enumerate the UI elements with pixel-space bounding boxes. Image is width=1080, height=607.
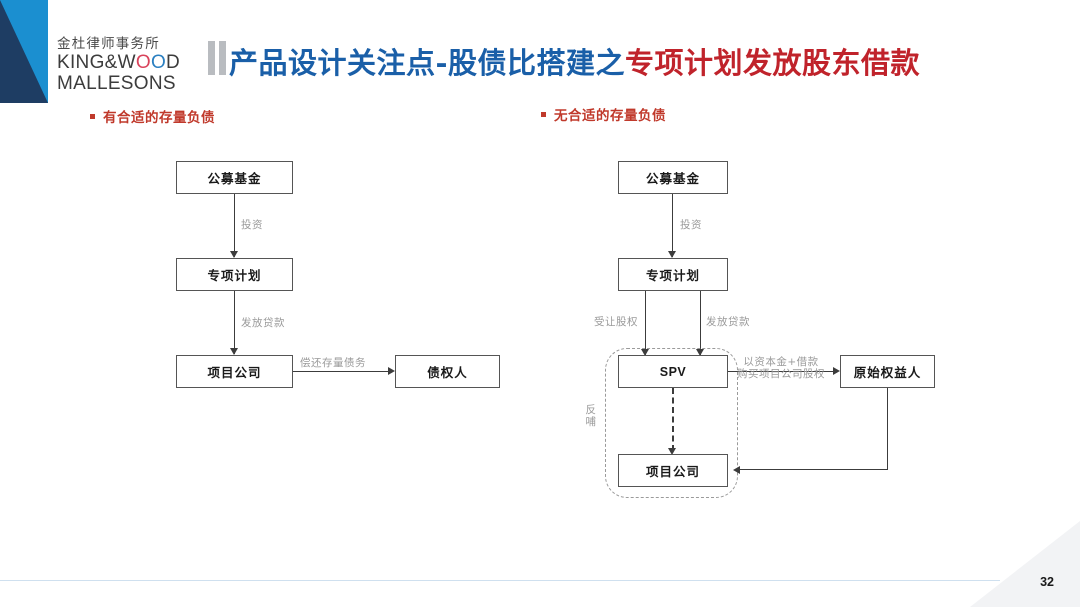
section-heading-right: 无合适的存量负债 <box>541 104 666 124</box>
node-spv: SPV <box>618 355 728 388</box>
node-project-company-left: 项目公司 <box>176 355 293 388</box>
edge-spv-to-project-dashed <box>672 388 674 451</box>
page-number: 32 <box>1040 575 1054 589</box>
footer-divider <box>0 580 1000 581</box>
brand-graphic <box>0 0 48 103</box>
arrowhead-down <box>668 251 676 258</box>
arrowhead-right <box>388 367 395 375</box>
edge-project-to-creditor <box>293 371 390 372</box>
edge-label-feedback: 反哺 <box>585 404 597 428</box>
title-bar-1 <box>208 41 215 75</box>
section-heading-left: 有合适的存量负债 <box>90 106 215 126</box>
page-title-highlight: 专项计划发放股东借款 <box>625 46 920 80</box>
section-heading-right-label: 无合适的存量负债 <box>554 104 666 124</box>
arrowhead-left <box>733 466 740 474</box>
edge-plan-to-spv-loan <box>700 291 701 355</box>
logo-chinese-name: 金杜律师事务所 <box>57 36 182 52</box>
title-bar-2 <box>219 41 226 75</box>
arrowhead-down <box>230 251 238 258</box>
logo-en-prefix: KING&W <box>57 52 136 73</box>
kwm-logo: 金杜律师事务所 KING&WOOD MALLESONS <box>57 36 182 94</box>
section-heading-left-label: 有合适的存量负债 <box>103 106 215 126</box>
edge-label-repay-debt: 偿还存量债务 <box>300 355 366 370</box>
node-special-plan-right: 专项计划 <box>618 258 728 291</box>
logo-english-line2: MALLESONS <box>57 73 182 94</box>
edge-plan-to-spv-equity <box>645 291 646 355</box>
edge-label-purchase: 以资本金+借款购买项目公司股权 <box>733 357 829 380</box>
edge-originator-to-project <box>740 469 888 470</box>
edge-label-invest-left: 投资 <box>241 217 263 232</box>
edge-label-purchase-line2: 购买项目公司股权 <box>737 368 825 380</box>
corner-decoration <box>970 521 1080 607</box>
square-bullet-icon <box>90 114 95 119</box>
logo-o-red: O <box>136 52 151 73</box>
node-public-fund-left: 公募基金 <box>176 161 293 194</box>
arrowhead-right <box>833 367 840 375</box>
title-accent-bars <box>208 41 226 75</box>
edge-plan-to-project-left <box>234 291 235 354</box>
edge-label-purchase-line1: 以资本金+借款 <box>743 356 818 368</box>
edge-fund-to-plan-left <box>234 194 235 257</box>
arrowhead-down <box>230 348 238 355</box>
edge-fund-to-plan-right <box>672 194 673 257</box>
logo-en-suffix: D <box>166 52 180 73</box>
logo-english-line1: KING&WOOD <box>57 52 182 73</box>
node-creditor: 债权人 <box>395 355 500 388</box>
page-title: 产品设计关注点-股债比搭建之专项计划发放股东借款 <box>229 40 920 82</box>
edge-originator-down <box>887 388 888 470</box>
node-special-plan-left: 专项计划 <box>176 258 293 291</box>
edge-label-loan-left: 发放贷款 <box>241 315 285 330</box>
node-project-company-right: 项目公司 <box>618 454 728 487</box>
edge-label-invest-right: 投资 <box>680 217 702 232</box>
node-originator: 原始权益人 <box>840 355 935 388</box>
node-public-fund-right: 公募基金 <box>618 161 728 194</box>
edge-label-transfer-equity: 受让股权 <box>594 314 638 329</box>
square-bullet-icon <box>541 112 546 117</box>
logo-o-blue: O <box>151 52 166 73</box>
page-title-primary: 产品设计关注点-股债比搭建之 <box>229 46 625 80</box>
edge-label-grant-loan-right: 发放贷款 <box>706 314 750 329</box>
